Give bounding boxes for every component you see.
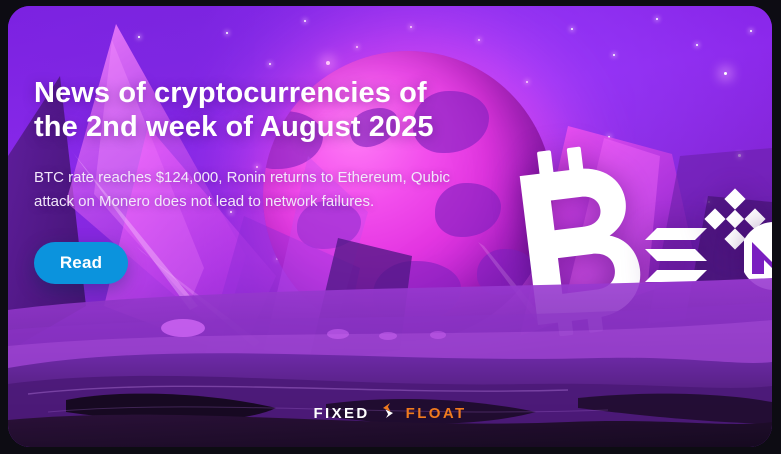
read-button[interactable]: Read bbox=[34, 242, 128, 284]
fixedfloat-logo[interactable]: FIXED FLOAT bbox=[8, 402, 772, 425]
page-title: News of cryptocurrencies of the 2nd week… bbox=[34, 76, 454, 144]
logo-word-float: FLOAT bbox=[406, 405, 467, 422]
banner-subheading: BTC rate reaches $124,000, Ronin returns… bbox=[34, 166, 454, 214]
logo-word-fixed: FIXED bbox=[313, 405, 369, 422]
banner-content: News of cryptocurrencies of the 2nd week… bbox=[34, 76, 464, 284]
screenshot-root: News of cryptocurrencies of the 2nd week… bbox=[0, 0, 781, 454]
news-banner-card[interactable]: News of cryptocurrencies of the 2nd week… bbox=[8, 6, 772, 447]
swap-arrows-icon bbox=[376, 402, 400, 425]
